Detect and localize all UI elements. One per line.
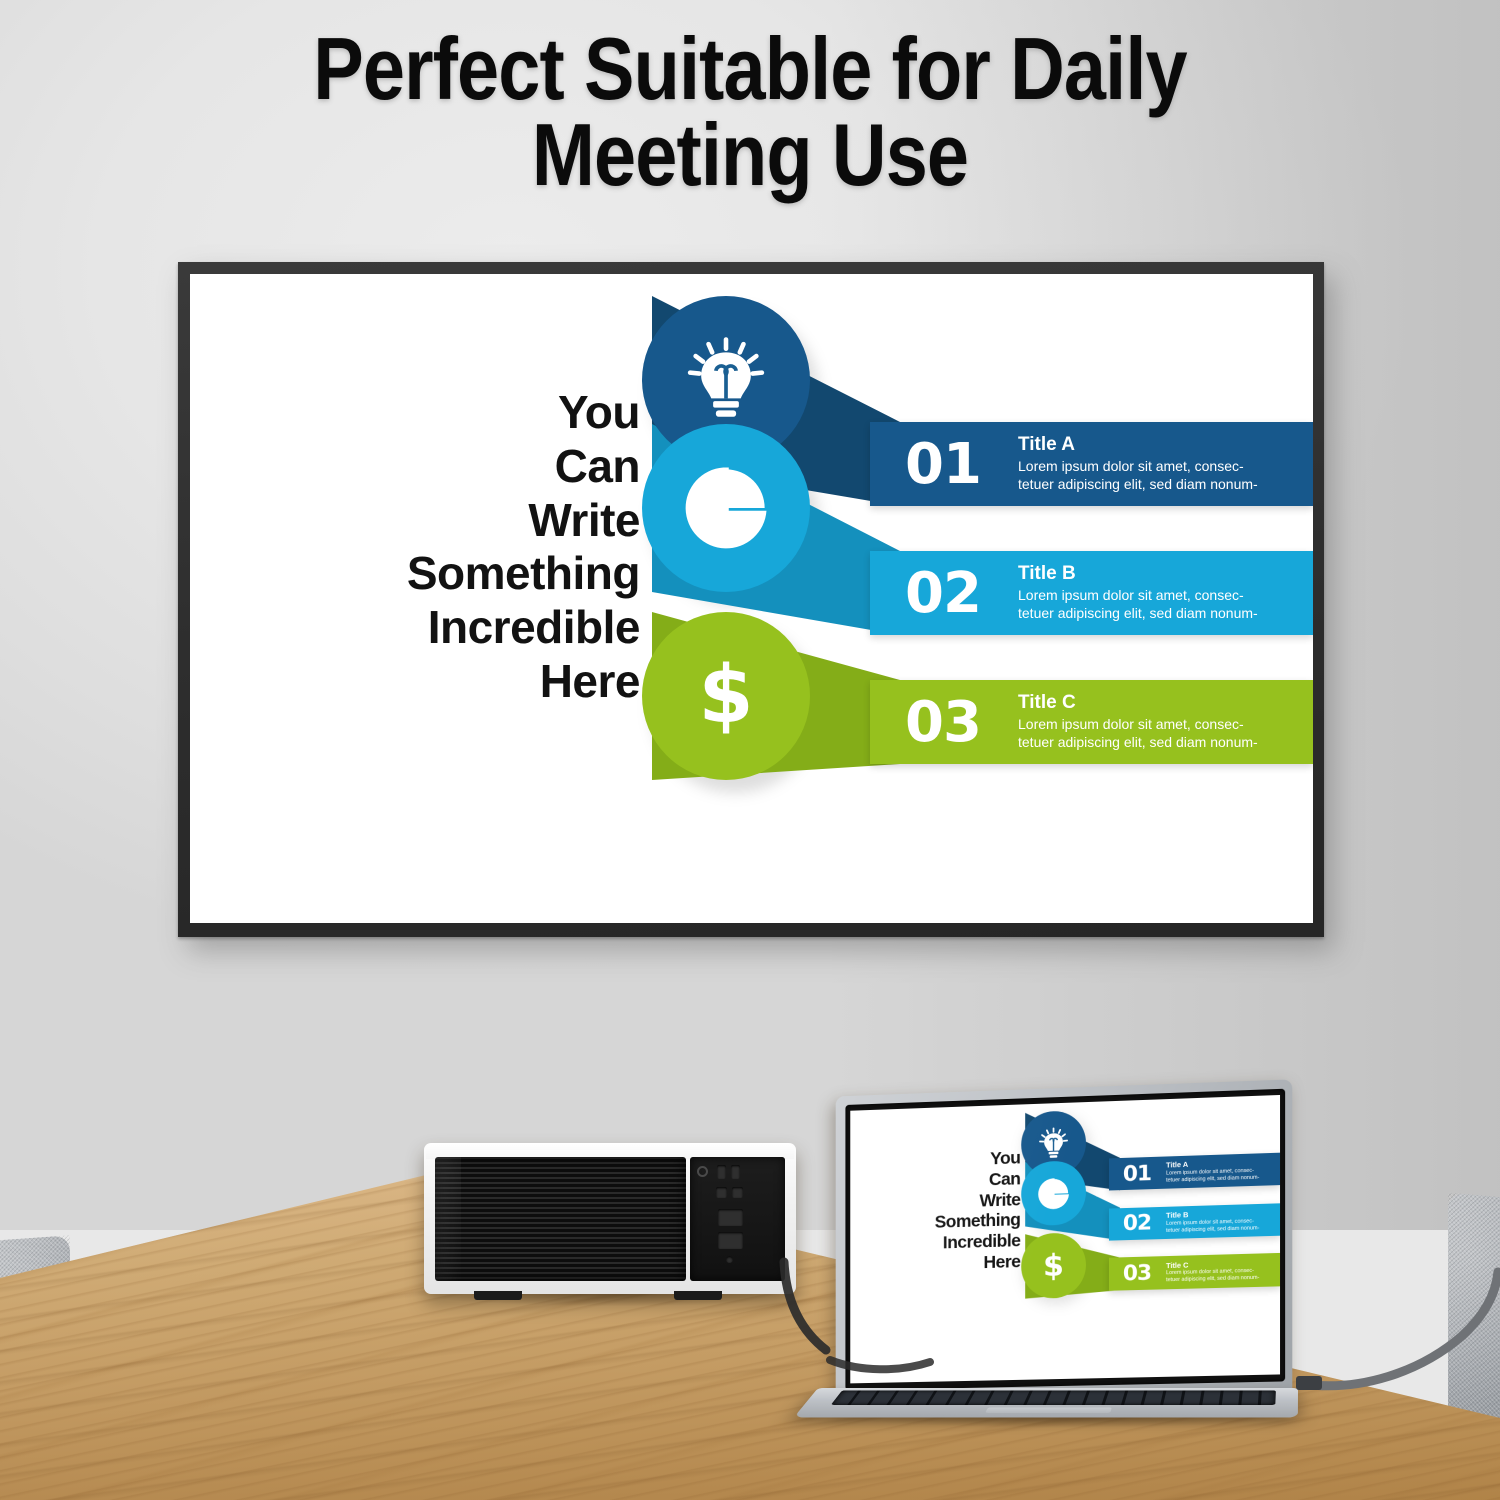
info-bar-01: 01Title ALorem ipsum dolor sit amet, con… — [870, 422, 1313, 506]
info-bar-02: 02Title BLorem ipsum dolor sit amet, con… — [870, 551, 1313, 635]
laptop-device: YouCanWriteSomethingIncredibleHere01Titl… — [818, 1088, 1298, 1428]
info-bar-title-03: Title C — [1018, 692, 1258, 714]
dollar-sign-icon: $ — [1036, 1248, 1071, 1284]
slide-heading-line-5: Incredible — [220, 601, 640, 655]
info-bar-number-02: 02 — [1114, 1210, 1160, 1236]
slide-heading-line-2: Can — [220, 440, 640, 494]
info-bar-02: 02Title BLorem ipsum dolor sit amet, con… — [1109, 1203, 1280, 1241]
info-bar-text-01: Title ALorem ipsum dolor sit amet, conse… — [1166, 1158, 1259, 1185]
info-bar-desc-02-line-2: tetuer adipiscing elit, sed diam nonum- — [1018, 605, 1258, 623]
slide-heading-line-3: Write — [220, 494, 640, 548]
product-marketing-scene: Perfect Suitable for Daily Meeting Use Y… — [0, 0, 1500, 1500]
info-bar-text-01: Title ALorem ipsum dolor sit amet, conse… — [1018, 434, 1258, 494]
slide-heading: YouCanWriteSomethingIncredibleHere — [862, 1147, 1021, 1275]
info-bar-number-01: 01 — [1114, 1160, 1160, 1187]
info-bar-text-02: Title BLorem ipsum dolor sit amet, conse… — [1018, 563, 1258, 623]
info-bar-number-03: 03 — [1114, 1260, 1160, 1286]
usb-c-port-2 — [732, 1187, 743, 1198]
laptop-keyboard[interactable] — [831, 1390, 1276, 1405]
projection-screen-frame: YouCanWriteSomethingIncredibleHere01Titl… — [178, 262, 1324, 937]
info-bar-number-02: 02 — [884, 561, 1002, 626]
info-bar-text-03: Title CLorem ipsum dolor sit amet, conse… — [1166, 1258, 1259, 1284]
info-bar-desc-01-line-1: Lorem ipsum dolor sit amet, consec- — [1018, 458, 1258, 476]
slide-heading-line-6: Here — [220, 655, 640, 709]
projector-vent-grille — [435, 1157, 686, 1281]
projection-screen-surface: YouCanWriteSomethingIncredibleHere01Titl… — [190, 274, 1313, 923]
svg-text:$: $ — [698, 650, 753, 741]
slide-heading: YouCanWriteSomethingIncredibleHere — [220, 386, 640, 709]
audio-jack — [726, 1256, 733, 1263]
projector-foot-right — [674, 1291, 722, 1300]
svg-text:$: $ — [1043, 1248, 1064, 1284]
hdmi-port-1 — [718, 1209, 743, 1226]
usb-port-2 — [731, 1165, 740, 1179]
pie-chart-icon — [1036, 1175, 1071, 1211]
info-bar-title-02: Title B — [1018, 563, 1258, 585]
info-bar-number-01: 01 — [884, 432, 1002, 497]
info-bar-03: 03Title CLorem ipsum dolor sit amet, con… — [870, 680, 1313, 764]
laptop-lid: YouCanWriteSomethingIncredibleHere01Titl… — [836, 1079, 1293, 1410]
dollar-sign-icon: $ — [680, 650, 772, 742]
info-bar-desc-02-line-1: Lorem ipsum dolor sit amet, consec- — [1018, 587, 1258, 605]
laptop-trackpad[interactable] — [985, 1407, 1112, 1413]
laptop-display: YouCanWriteSomethingIncredibleHere01Titl… — [850, 1095, 1280, 1383]
pie-chart-icon — [680, 462, 772, 554]
page-title: Perfect Suitable for Daily Meeting Use — [105, 26, 1395, 198]
projector-port-panel — [690, 1157, 785, 1281]
projector-device — [424, 1143, 796, 1294]
slide-heading-line-4: Something — [220, 547, 640, 601]
projected-slide: YouCanWriteSomethingIncredibleHere01Titl… — [190, 274, 1313, 923]
info-bar-desc-01-line-2: tetuer adipiscing elit, sed diam nonum- — [1018, 476, 1258, 494]
icon-circle-03: $ — [642, 612, 810, 780]
slide-heading-line-1: You — [220, 386, 640, 440]
lightbulb-icon — [1036, 1126, 1071, 1162]
info-bar-desc-03-line-1: Lorem ipsum dolor sit amet, consec- — [1018, 716, 1258, 734]
info-bar-03: 03Title CLorem ipsum dolor sit amet, con… — [1109, 1253, 1280, 1290]
usb-port-1 — [717, 1165, 726, 1179]
projector-foot-left — [474, 1291, 522, 1300]
laptop-bezel: YouCanWriteSomethingIncredibleHere01Titl… — [845, 1089, 1285, 1391]
power-button-icon[interactable] — [697, 1166, 708, 1177]
info-bar-01: 01Title ALorem ipsum dolor sit amet, con… — [1109, 1153, 1280, 1191]
usb-c-port-1 — [716, 1187, 727, 1198]
info-bar-desc-03-line-2: tetuer adipiscing elit, sed diam nonum- — [1018, 734, 1258, 752]
info-bar-desc-03-line-2: tetuer adipiscing elit, sed diam nonum- — [1166, 1275, 1259, 1284]
lightbulb-icon — [680, 334, 772, 426]
hdmi-port-2 — [718, 1232, 743, 1249]
info-bar-text-03: Title CLorem ipsum dolor sit amet, conse… — [1018, 692, 1258, 752]
laptop-base — [794, 1388, 1298, 1418]
headline-line-2: Meeting Use — [105, 112, 1395, 198]
info-bar-text-02: Title BLorem ipsum dolor sit amet, conse… — [1166, 1208, 1259, 1235]
headline-line-1: Perfect Suitable for Daily — [105, 26, 1395, 112]
slide-heading-line-6: Here — [862, 1251, 1021, 1276]
icon-circle-02 — [642, 424, 810, 592]
laptop-slide: YouCanWriteSomethingIncredibleHere01Titl… — [850, 1095, 1280, 1383]
info-bar-number-03: 03 — [884, 690, 1002, 755]
info-bar-title-01: Title A — [1018, 434, 1258, 456]
